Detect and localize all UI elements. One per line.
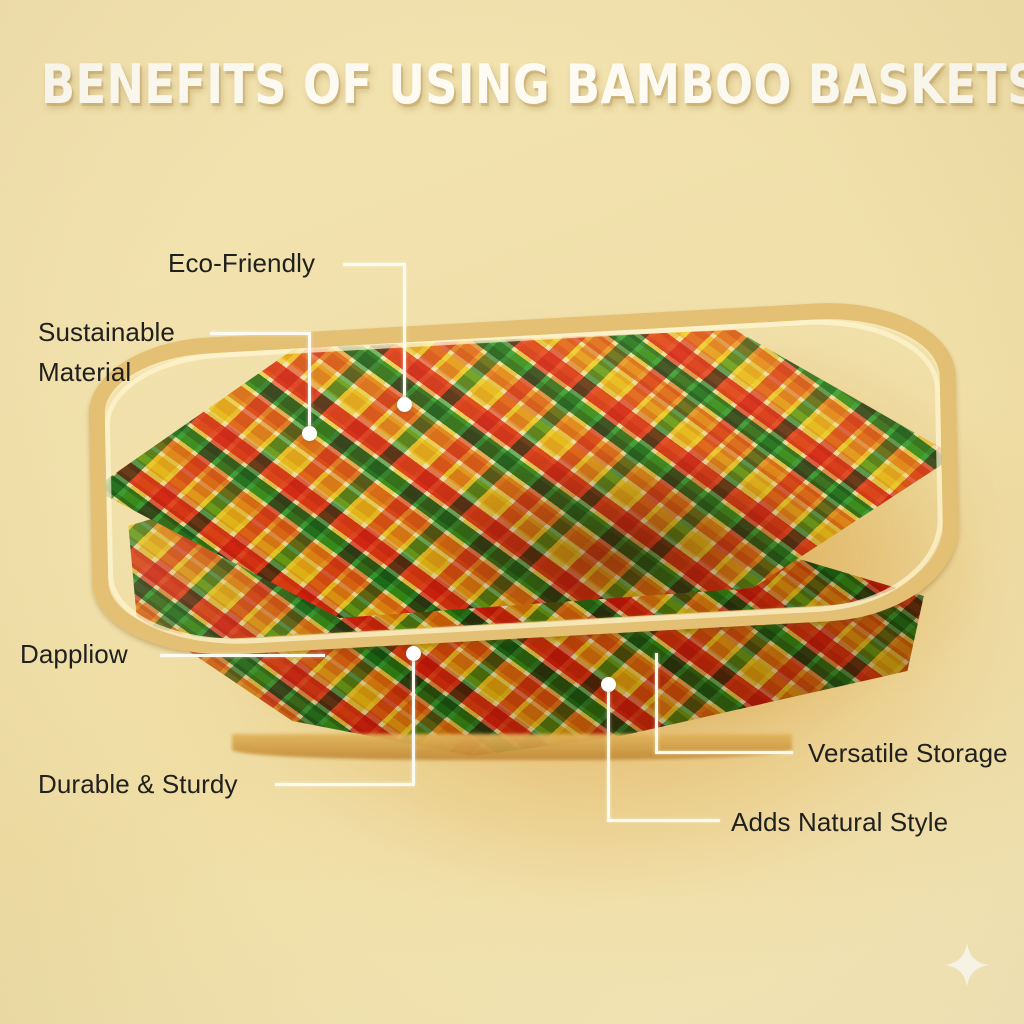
background-vignette — [0, 0, 1024, 1024]
infographic-canvas: BENEFITS OF USING BAMBOO BASKETS Eco-Fri… — [0, 0, 1024, 1024]
